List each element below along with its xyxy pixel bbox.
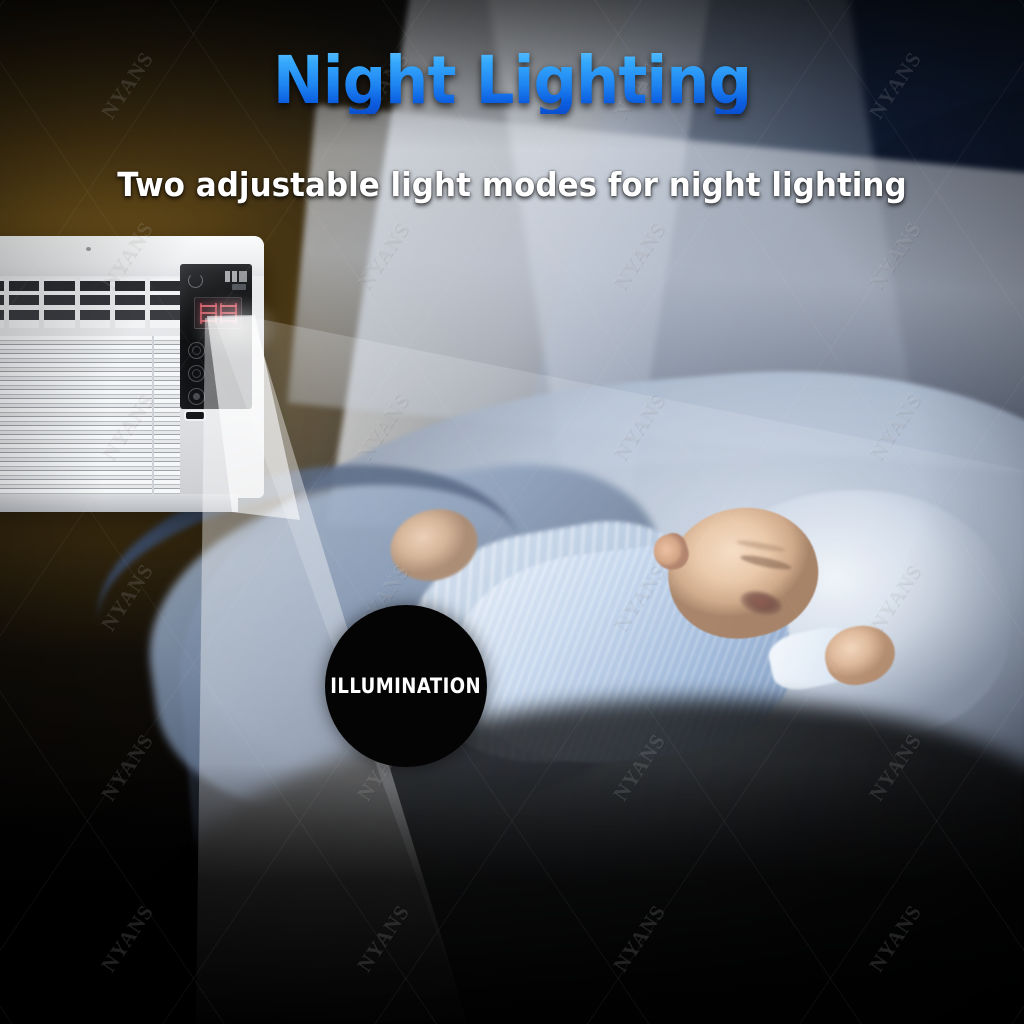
- status-badge-label: ILLUMINATION: [331, 674, 482, 698]
- page-title: Night Lighting: [41, 48, 983, 114]
- ac-louver-divider: [152, 336, 154, 498]
- page-subtitle: Two adjustable light modes for night lig…: [31, 165, 994, 204]
- light-icon[interactable]: [188, 388, 205, 405]
- ac-front-slot: [186, 412, 204, 419]
- promo-image-canvas: NYANSNYANSNYANSNYANSNYANSNYANSNYANSNYANS…: [0, 0, 1024, 1024]
- ac-top-sensor-dot: [86, 247, 91, 251]
- ac-brand-logo: [225, 271, 247, 282]
- status-badge: ILLUMINATION: [325, 605, 487, 767]
- ac-bottom-edge: [0, 494, 238, 512]
- ac-upper-grille: [0, 278, 180, 328]
